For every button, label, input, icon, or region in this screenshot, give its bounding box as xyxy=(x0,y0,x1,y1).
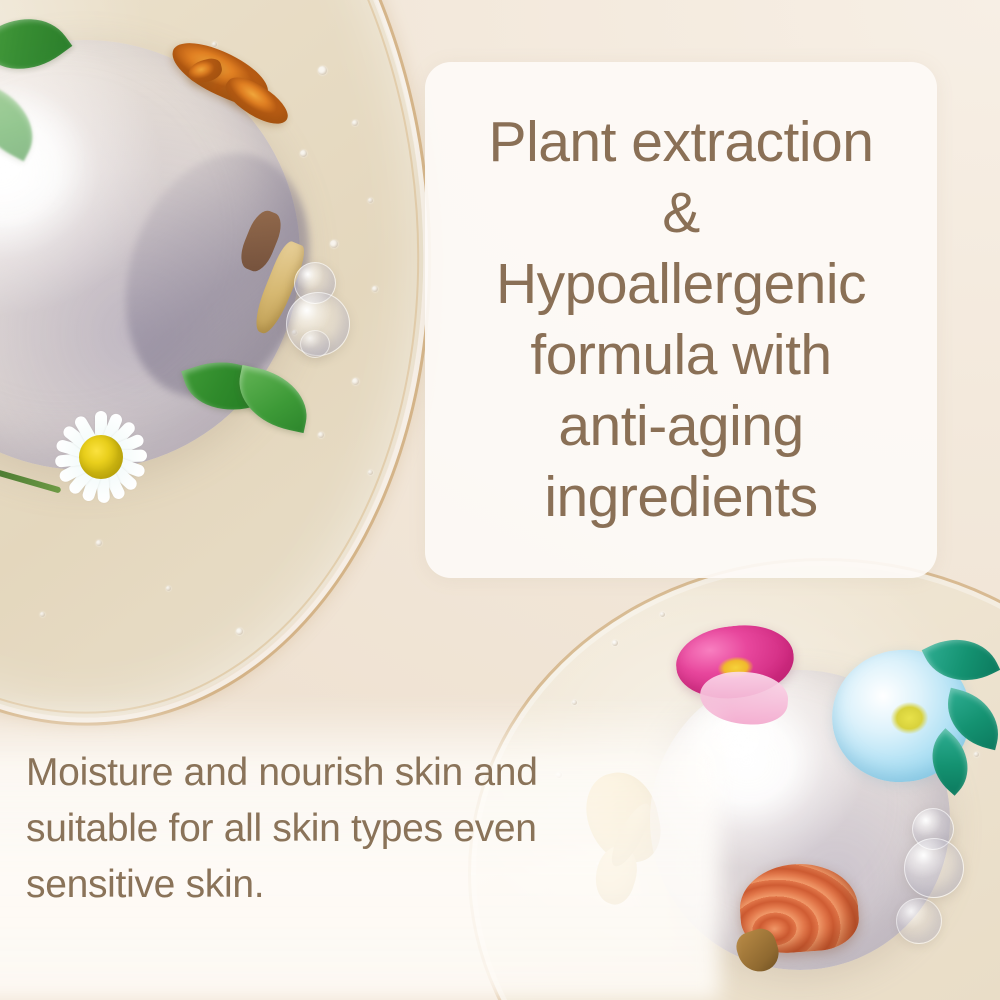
water-droplet-icon xyxy=(372,286,378,292)
headline-card: Plant extraction & Hypoallergenic formul… xyxy=(425,62,937,578)
water-droplet-icon xyxy=(236,628,243,635)
water-droplet-icon xyxy=(318,432,324,438)
water-droplet-icon xyxy=(660,612,665,617)
water-droplet-icon xyxy=(318,66,327,75)
water-droplet-icon xyxy=(96,540,102,546)
water-droplet-icon xyxy=(974,752,979,757)
bubble-icon xyxy=(300,330,330,358)
water-droplet-icon xyxy=(300,150,307,157)
water-droplet-icon xyxy=(212,42,217,47)
water-droplet-icon xyxy=(166,586,171,591)
water-droplet-icon xyxy=(330,240,338,248)
headline-text: Plant extraction & Hypoallergenic formul… xyxy=(489,107,874,533)
water-droplet-icon xyxy=(368,470,373,475)
water-droplet-icon xyxy=(612,640,618,646)
water-droplet-icon xyxy=(352,378,359,385)
body-copy-text: Moisture and nourish skin and suitable f… xyxy=(26,745,626,913)
water-droplet-icon xyxy=(368,198,373,203)
bubble-icon xyxy=(904,838,964,898)
bubble-icon xyxy=(896,898,942,944)
flower-core-icon xyxy=(79,435,123,479)
chamomile-flower-icon xyxy=(36,392,166,522)
banner-canvas: Plant extraction & Hypoallergenic formul… xyxy=(0,0,1000,1000)
water-droplet-icon xyxy=(40,612,45,617)
water-droplet-icon xyxy=(352,120,358,126)
